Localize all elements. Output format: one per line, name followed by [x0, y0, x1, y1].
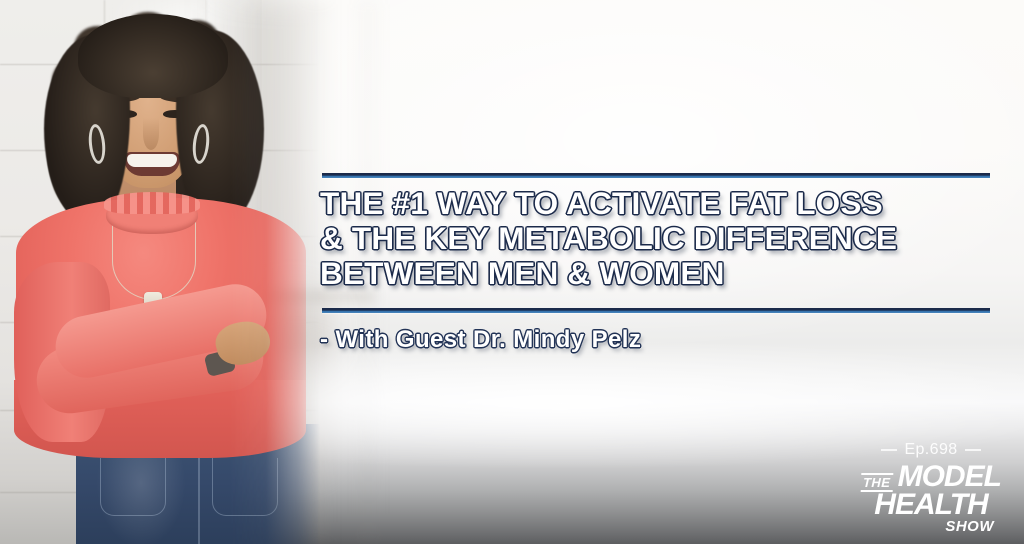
guest-portrait — [0, 0, 320, 544]
episode-title: THE #1 WAY TO ACTIVATE FAT LOSS & THE KE… — [320, 186, 1000, 291]
dash-left-icon — [881, 449, 897, 451]
logo-word-the: THE — [861, 473, 893, 492]
dash-right-icon — [965, 449, 981, 451]
podcast-episode-card: THE #1 WAY TO ACTIVATE FAT LOSS & THE KE… — [0, 0, 1024, 544]
logo-line-health: HEALTH — [856, 492, 1006, 520]
episode-number-row: Ep.698 — [856, 441, 1006, 459]
logo-line-show: SHOW — [856, 520, 1006, 534]
logo-word-show: SHOW — [945, 519, 1006, 534]
logo-word-health: HEALTH — [874, 490, 987, 520]
divider-top — [322, 173, 990, 178]
episode-number: Ep.698 — [904, 441, 957, 459]
guest-photo — [0, 0, 320, 544]
divider-bottom — [322, 308, 990, 313]
show-logo: Ep.698 THE MODEL HEALTH SHOW — [856, 441, 1006, 534]
episode-guest-subtitle: - With Guest Dr. Mindy Pelz — [320, 326, 1000, 354]
